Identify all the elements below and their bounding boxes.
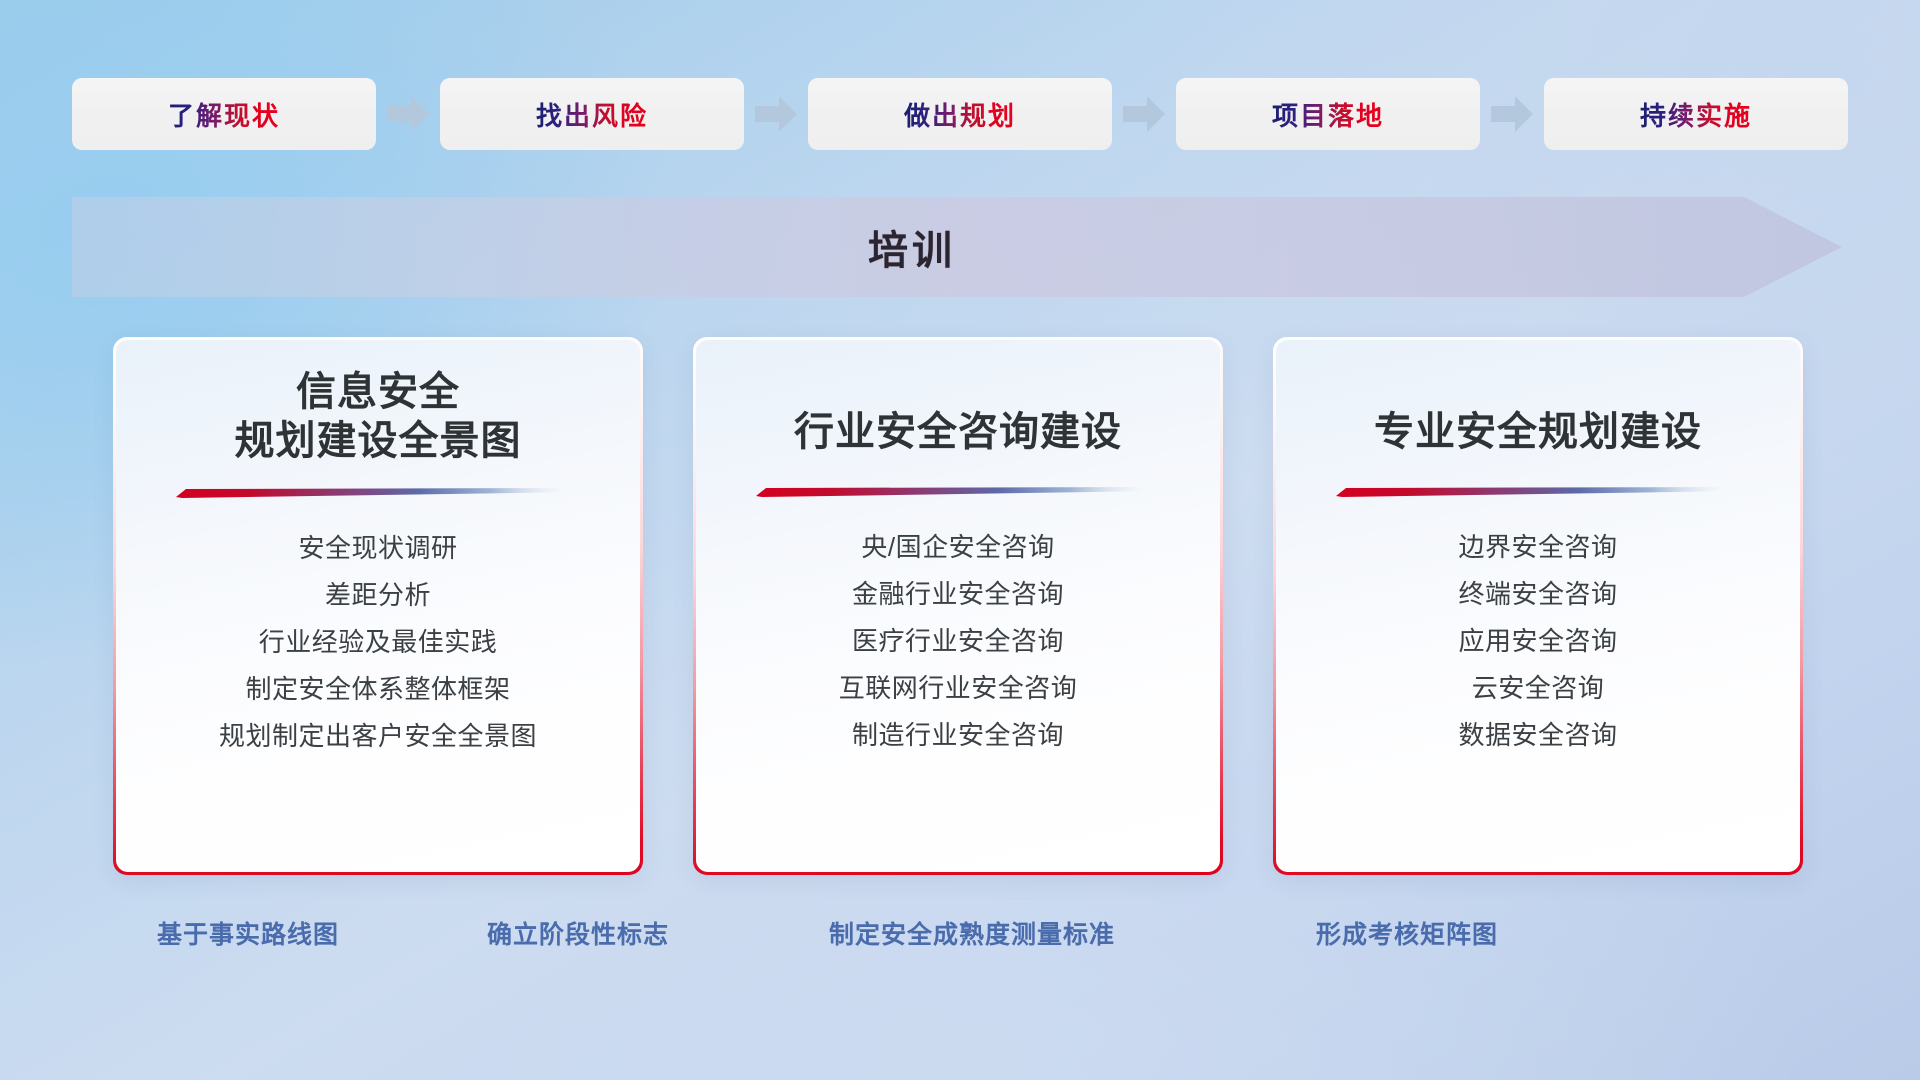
caption-row: 基于事实路线图 确立阶段性标志 制定安全成熟度测量标准 形成考核矩阵图 [0,915,1920,961]
list-item: 制造行业安全咨询 [852,715,1064,756]
step-label: 找出风险 [536,96,648,133]
caption-3: 制定安全成熟度测量标准 [829,915,1115,951]
card-list: 央/国企安全咨询 金融行业安全咨询 医疗行业安全咨询 互联网行业安全咨询 制造行… [696,527,1220,756]
training-banner: 培训 [72,197,1842,297]
banner-title: 培训 [72,197,1752,297]
list-item: 数据安全咨询 [1458,715,1617,756]
card-inner: 信息安全 规划建设全景图 [116,340,640,872]
list-item: 医疗行业安全咨询 [852,621,1064,662]
list-item: 制定安全体系整体框架 [245,669,510,710]
step-label: 持续实施 [1640,96,1752,133]
card-title: 信息安全 规划建设全景图 [235,368,522,466]
card-title: 行业安全咨询建设 [794,408,1122,457]
card-information-security[interactable]: 信息安全 规划建设全景图 [113,337,643,875]
step-label: 做出规划 [904,96,1016,133]
list-item: 央/国企安全咨询 [861,527,1054,568]
card-inner: 专业安全规划建设 [1276,340,1800,872]
list-item: 金融行业安全咨询 [852,574,1064,615]
card-inner: 行业安全咨询建设 [696,340,1220,872]
caption-2: 确立阶段性标志 [487,915,669,951]
caption-4: 形成考核矩阵图 [1316,915,1498,951]
caption-1: 基于事实路线图 [157,915,339,951]
arrow-right-icon [387,94,429,134]
list-item: 规划制定出客户安全全景图 [219,716,537,757]
step-label: 项目落地 [1272,96,1384,133]
step-box-3[interactable]: 做出规划 [808,78,1112,150]
arrow-right-icon [1491,94,1533,134]
card-list: 边界安全咨询 终端安全咨询 应用安全咨询 云安全咨询 数据安全咨询 [1276,527,1800,756]
infographic-stage: 了解现状 找出风险 做出规划 项目落地 [0,0,1920,1080]
card-title: 专业安全规划建设 [1374,408,1702,457]
card-row: 信息安全 规划建设全景图 [113,337,1803,875]
step-box-1[interactable]: 了解现状 [72,78,376,150]
step-box-5[interactable]: 持续实施 [1544,78,1848,150]
step-box-2[interactable]: 找出风险 [440,78,744,150]
process-step-row: 了解现状 找出风险 做出规划 项目落地 [72,78,1848,150]
card-list: 安全现状调研 差距分析 行业经验及最佳实践 制定安全体系整体框架 规划制定出客户… [116,528,640,757]
card-industry-security-consulting[interactable]: 行业安全咨询建设 [693,337,1223,875]
arrow-right-icon [755,94,797,134]
card-professional-security-planning[interactable]: 专业安全规划建设 [1273,337,1803,875]
card-divider-icon [1336,487,1740,497]
card-divider-icon [756,487,1160,497]
step-box-4[interactable]: 项目落地 [1176,78,1480,150]
card-divider-icon [176,488,580,498]
arrow-right-icon [1123,94,1165,134]
list-item: 差距分析 [325,575,431,616]
step-label: 了解现状 [168,96,280,133]
list-item: 安全现状调研 [298,528,457,569]
list-item: 终端安全咨询 [1458,574,1617,615]
list-item: 边界安全咨询 [1458,527,1617,568]
list-item: 应用安全咨询 [1458,621,1617,662]
list-item: 行业经验及最佳实践 [259,622,498,663]
list-item: 互联网行业安全咨询 [839,668,1078,709]
list-item: 云安全咨询 [1472,668,1605,709]
